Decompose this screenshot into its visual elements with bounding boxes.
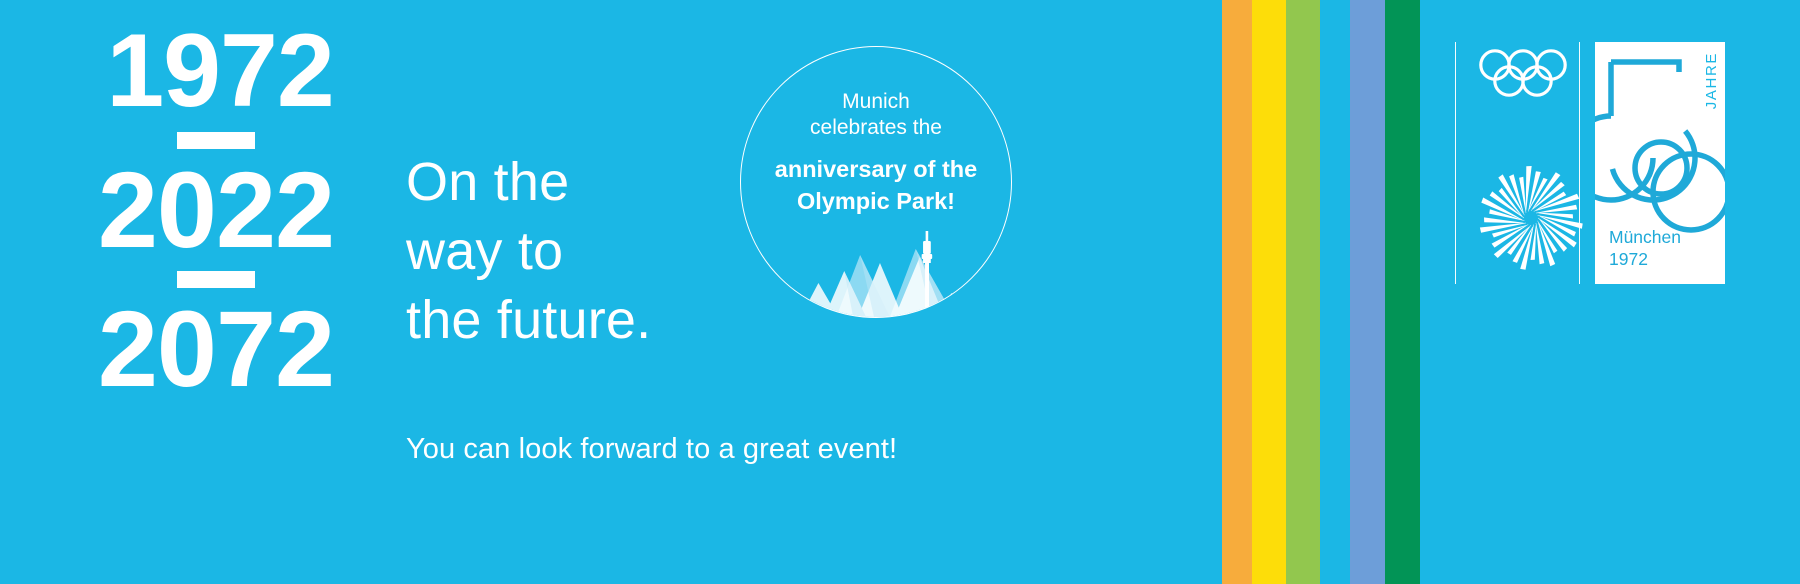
year-1972: 1972 <box>54 24 386 120</box>
circle-badge-line-3: anniversary of the <box>741 154 1011 184</box>
lockup-divider-left <box>1455 42 1456 284</box>
jubilee-badge: JAHRE München 1972 <box>1595 42 1725 284</box>
olympic-park-illustration-icon <box>741 197 1011 317</box>
jubilee-city: München <box>1609 227 1681 248</box>
munich-1972-radiant-emblem-icon <box>1471 158 1591 278</box>
olympic-rings-icon <box>1479 48 1585 104</box>
logo-lockup: JAHRE München 1972 <box>1455 0 1800 584</box>
year-2022: 2022 <box>46 160 386 259</box>
stripe-green <box>1385 0 1420 584</box>
headline-line-2: way to <box>406 217 736 286</box>
jubilee-jahre-label: JAHRE <box>1703 52 1720 109</box>
circle-badge-line-2: celebrates the <box>741 115 1011 141</box>
year-separator-dash-1 <box>177 132 255 149</box>
jubilee-year: 1972 <box>1609 249 1681 270</box>
subline: You can look forward to a great event! <box>406 433 897 466</box>
years-block: 1972 2022 2072 <box>46 24 386 398</box>
year-separator-dash-2 <box>177 271 255 288</box>
headline-line-1: On the <box>406 148 736 217</box>
stripe-orange <box>1222 0 1252 584</box>
stripe-periwinkle <box>1350 0 1385 584</box>
stripe-light-green <box>1286 0 1320 584</box>
headline: On the way to the future. <box>406 148 736 355</box>
anniversary-banner: 1972 2022 2072 On the way to the future.… <box>0 0 1800 584</box>
headline-line-3: the future. <box>406 286 736 355</box>
anniversary-circle-badge: Munich celebrates the anniversary of the… <box>740 46 1012 318</box>
jubilee-city-year: München 1972 <box>1609 227 1681 270</box>
circle-badge-line-1: Munich <box>741 89 1011 115</box>
stripe-yellow <box>1252 0 1286 584</box>
year-2072: 2072 <box>46 299 386 398</box>
